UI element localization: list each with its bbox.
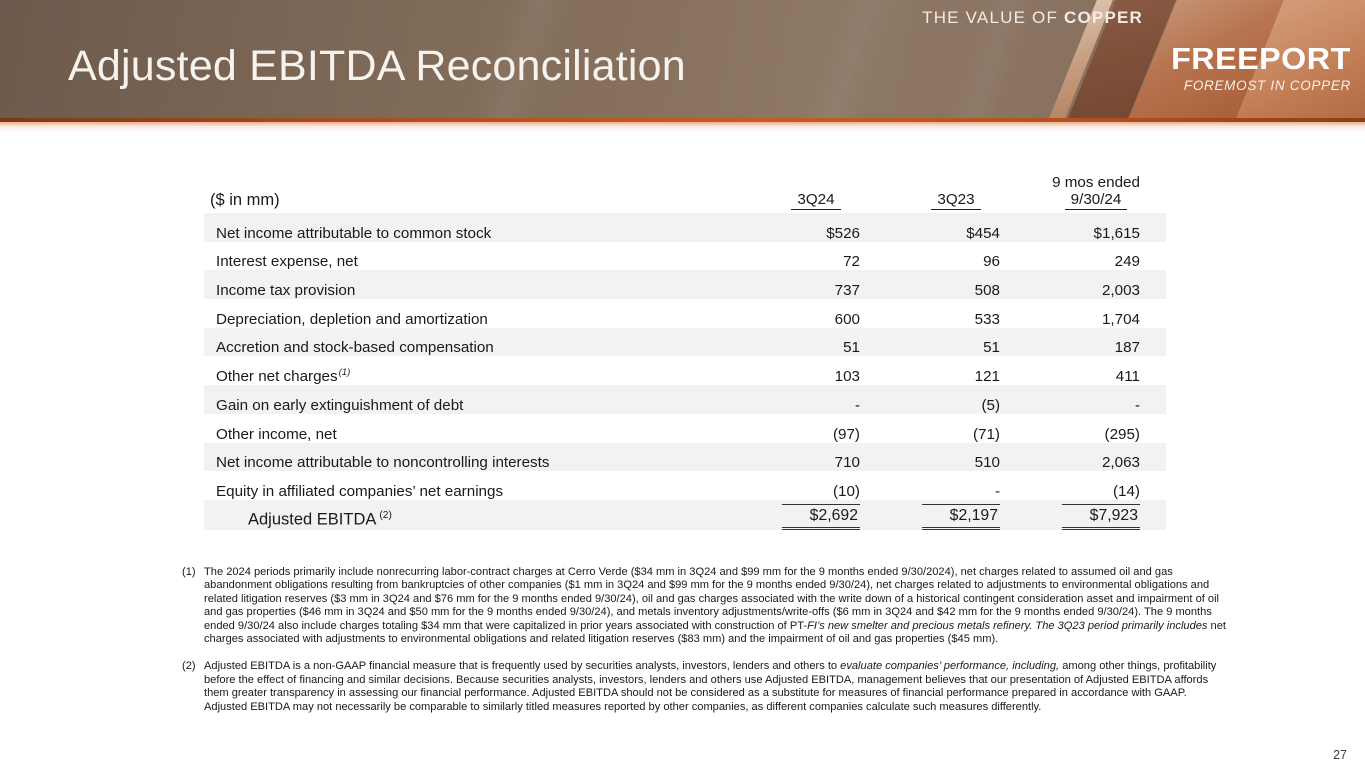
- row-value-3Q23: (5): [886, 385, 1026, 414]
- units-cell: ($ in mm): [204, 158, 746, 213]
- page-title: Adjusted EBITDA Reconciliation: [68, 38, 686, 94]
- row-label: Other income, net: [204, 414, 746, 443]
- row-value-3Q24: 600: [746, 299, 886, 328]
- row-value-93024: 187: [1026, 328, 1166, 357]
- footnote-emphasis: FI’s new smelter and precious metals ref…: [807, 620, 1207, 632]
- reconciliation-table-container: ($ in mm) 3Q24 3Q23 9 mos end: [204, 158, 1166, 530]
- row-value-3Q23: 533: [886, 299, 1026, 328]
- column-header-3q24-key: 3Q24: [791, 191, 840, 210]
- row-value-3Q23: 510: [886, 443, 1026, 472]
- table-head: ($ in mm) 3Q24 3Q23 9 mos end: [204, 158, 1166, 213]
- adjusted-ebitda-table: ($ in mm) 3Q24 3Q23 9 mos end: [204, 158, 1166, 530]
- table-row: Net income attributable to noncontrollin…: [204, 443, 1166, 472]
- column-header-3q23: 3Q23: [886, 158, 1026, 213]
- total-amount: $7,923: [1062, 504, 1140, 530]
- row-value-3Q24: 710: [746, 443, 886, 472]
- footnote-text: The 2024 periods primarily include nonre…: [204, 566, 1228, 646]
- total-value-93024: $7,923: [1026, 500, 1166, 530]
- row-value-3Q23: 508: [886, 270, 1026, 299]
- brand-tagline-top: THE VALUE OF COPPER: [922, 8, 1143, 28]
- table-row: Income tax provision7375082,003: [204, 270, 1166, 299]
- table-row: Other income, net(97)(71)(295): [204, 414, 1166, 443]
- row-value-3Q24: 51: [746, 328, 886, 357]
- footnotes-section: (1)The 2024 periods primarily include no…: [182, 566, 1228, 728]
- total-amount: $2,692: [782, 504, 860, 530]
- column-header-3q24: 3Q24: [746, 158, 886, 213]
- row-value-3Q24: 72: [746, 242, 886, 271]
- footnote-marker: (2): [379, 510, 391, 521]
- row-label: Other net charges(1): [204, 356, 746, 385]
- row-value-3Q23: (71): [886, 414, 1026, 443]
- footnote-marker: (1): [339, 367, 351, 378]
- row-label: Equity in affiliated companies’ net earn…: [204, 471, 746, 500]
- footnote-number: (2): [182, 660, 204, 714]
- row-value-93024: 411: [1026, 356, 1166, 385]
- row-value-3Q24: 737: [746, 270, 886, 299]
- row-value-93024: 1,704: [1026, 299, 1166, 328]
- logo-wordmark: FREEPORT: [1171, 42, 1351, 76]
- column-header-9mos-top: 9 mos ended: [1052, 174, 1140, 191]
- row-value-93024: -: [1026, 385, 1166, 414]
- total-row-label: Adjusted EBITDA(2): [204, 500, 746, 530]
- column-header-9mos: 9 mos ended 9/30/24: [1026, 158, 1166, 213]
- footnote-segment: Adjusted EBITDA is a non-GAAP financial …: [204, 660, 840, 672]
- table-row: Interest expense, net7296249: [204, 242, 1166, 271]
- footnote: (1)The 2024 periods primarily include no…: [182, 566, 1228, 646]
- table-row: Depreciation, depletion and amortization…: [204, 299, 1166, 328]
- row-value-3Q24: (10): [746, 471, 886, 500]
- row-value-93024: $1,615: [1026, 213, 1166, 242]
- table-row: Gain on early extinguishment of debt-(5)…: [204, 385, 1166, 414]
- tagline-emphasis: COPPER: [1064, 8, 1143, 27]
- row-label: Net income attributable to common stock: [204, 213, 746, 242]
- footnote-number: (1): [182, 566, 204, 646]
- table-total-row: Adjusted EBITDA(2)$2,692$2,197$7,923: [204, 500, 1166, 530]
- row-label: Depreciation, depletion and amortization: [204, 299, 746, 328]
- row-value-3Q24: -: [746, 385, 886, 414]
- total-value-3Q24: $2,692: [746, 500, 886, 530]
- column-header-3q23-key: 3Q23: [931, 191, 980, 210]
- company-logo: FREEPORT FOREMOST IN COPPER: [1178, 42, 1351, 95]
- column-header-9mos-key: 9/30/24: [1065, 191, 1128, 210]
- footnote-text: Adjusted EBITDA is a non-GAAP financial …: [204, 660, 1228, 714]
- row-value-3Q23: $454: [886, 213, 1026, 242]
- row-label: Interest expense, net: [204, 242, 746, 271]
- row-value-3Q24: $526: [746, 213, 886, 242]
- table-row: Accretion and stock-based compensation51…: [204, 328, 1166, 357]
- header-accent-glow: [0, 122, 1365, 132]
- footnote-emphasis: evaluate companies’ performance, includi…: [840, 660, 1059, 672]
- row-label: Gain on early extinguishment of debt: [204, 385, 746, 414]
- units-label: ($ in mm): [204, 191, 280, 210]
- row-value-93024: 2,003: [1026, 270, 1166, 299]
- page-number: 27: [1333, 748, 1347, 762]
- table-row: Net income attributable to common stock$…: [204, 213, 1166, 242]
- tagline-prefix: THE VALUE OF: [922, 8, 1064, 27]
- row-value-3Q24: 103: [746, 356, 886, 385]
- table-body: Net income attributable to common stock$…: [204, 213, 1166, 530]
- row-label: Net income attributable to noncontrollin…: [204, 443, 746, 472]
- row-value-93024: 2,063: [1026, 443, 1166, 472]
- footnote: (2)Adjusted EBITDA is a non-GAAP financi…: [182, 660, 1228, 714]
- table-row: Equity in affiliated companies’ net earn…: [204, 471, 1166, 500]
- row-label: Income tax provision: [204, 270, 746, 299]
- slide-header: Adjusted EBITDA Reconciliation THE VALUE…: [0, 0, 1365, 118]
- row-value-3Q23: -: [886, 471, 1026, 500]
- row-value-3Q23: 121: [886, 356, 1026, 385]
- row-value-93024: (14): [1026, 471, 1166, 500]
- logo-subtitle: FOREMOST IN COPPER: [1178, 77, 1351, 95]
- row-label: Accretion and stock-based compensation: [204, 328, 746, 357]
- row-value-93024: 249: [1026, 242, 1166, 271]
- row-value-93024: (295): [1026, 414, 1166, 443]
- row-value-3Q24: (97): [746, 414, 886, 443]
- table-row: Other net charges(1)103121411: [204, 356, 1166, 385]
- table-header-row: ($ in mm) 3Q24 3Q23 9 mos end: [204, 158, 1166, 213]
- row-value-3Q23: 51: [886, 328, 1026, 357]
- total-amount: $2,197: [922, 504, 1000, 530]
- row-value-3Q23: 96: [886, 242, 1026, 271]
- total-value-3Q23: $2,197: [886, 500, 1026, 530]
